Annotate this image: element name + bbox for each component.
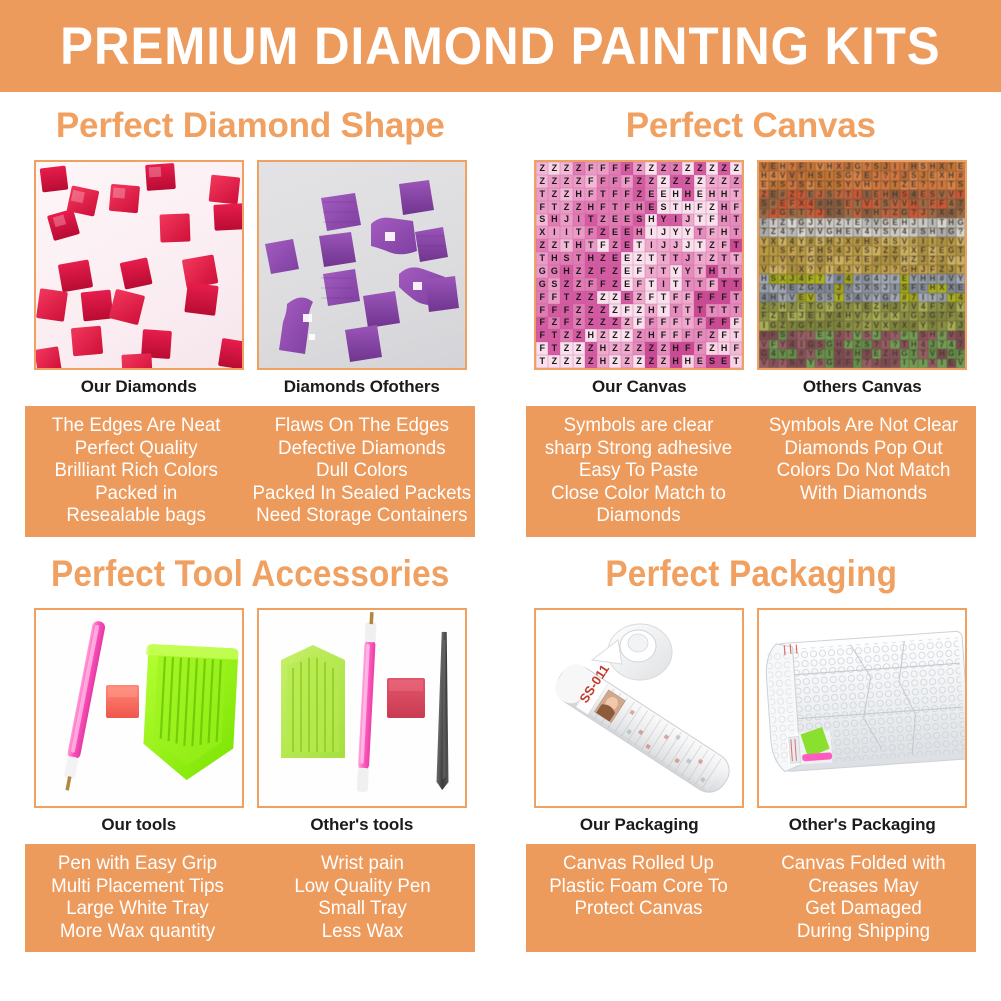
our-canvas-photo: ZZZZFFFFZZZZZZZZZZZZZFFFFZZZZZZZZZTZZHFT… bbox=[534, 160, 744, 370]
panel-tools-others: Wrist pain Low Quality Pen Small Tray Le… bbox=[255, 852, 471, 942]
our-packaging-photo: SS-011 bbox=[534, 608, 744, 808]
section-tool-accessories: Perfect Tool Accessories bbox=[0, 537, 501, 952]
others-canvas-photo: VEH?FIVHXJG?SJIIHSHXTEH4VVTHSISG7EJ?7JSJ… bbox=[757, 160, 967, 370]
canvas-symbol-grid-others: VEH?FIVHXJG?SJIIHSHXTEH4VVTHSISG7EJ?7JSJ… bbox=[759, 162, 965, 368]
image-pair-tools bbox=[0, 608, 501, 808]
others-diamonds-photo bbox=[257, 160, 467, 370]
others-tools-illustration bbox=[259, 610, 467, 808]
infographic-page: PREMIUM DIAMOND PAINTING KITS Perfect Di… bbox=[0, 0, 1001, 1001]
others-packaging-photo bbox=[757, 608, 967, 808]
canvas-symbol-grid-ours: ZZZZFFFFZZZZZZZZZZZZZFFFFZZZZZZZZZTZZHFT… bbox=[536, 162, 742, 368]
section-packaging: Perfect Packaging bbox=[501, 537, 1001, 952]
panel-diamond-shape-ours: The Edges Are Neat Perfect Quality Brill… bbox=[30, 414, 243, 527]
section-title-tool-accessories: Perfect Tool Accessories bbox=[25, 555, 475, 592]
bubble-mailer-illustration bbox=[759, 610, 967, 808]
section-title-packaging: Perfect Packaging bbox=[526, 555, 976, 592]
panel-canvas: Symbols are clear sharp Strong adhesive … bbox=[526, 406, 976, 537]
rolled-canvas-tube-illustration: SS-011 bbox=[536, 610, 744, 808]
section-title-diamond-shape: Perfect Diamond Shape bbox=[0, 108, 501, 143]
caption-our-canvas: Our Canvas bbox=[534, 377, 744, 397]
image-pair-canvas: ZZZZFFFFZZZZZZZZZZZZZFFFFZZZZZZZZZTZZHFT… bbox=[501, 160, 1001, 370]
caption-others-tools: Other's tools bbox=[257, 815, 467, 835]
panel-packaging-ours: Canvas Rolled Up Plastic Foam Core To Pr… bbox=[530, 852, 746, 942]
caption-others-diamonds: Diamonds Ofothers bbox=[257, 377, 467, 397]
panel-canvas-others: Symbols Are Not Clear Diamonds Pop Out C… bbox=[755, 414, 971, 527]
red-diamonds-illustration bbox=[36, 162, 244, 370]
caption-row-tools: Our tools Other's tools bbox=[0, 815, 501, 835]
page-header: PREMIUM DIAMOND PAINTING KITS bbox=[0, 0, 1001, 92]
panel-diamond-shape-others: Flaws On The Edges Defective Diamonds Du… bbox=[252, 414, 471, 527]
our-tools-photo bbox=[34, 608, 244, 808]
panel-packaging-others: Canvas Folded with Creases May Get Damag… bbox=[755, 852, 971, 942]
caption-others-packaging: Other's Packaging bbox=[757, 815, 967, 835]
panel-tools-ours: Pen with Easy Grip Multi Placement Tips … bbox=[30, 852, 246, 942]
caption-our-packaging: Our Packaging bbox=[534, 815, 744, 835]
section-diamond-shape: Perfect Diamond Shape bbox=[0, 92, 501, 537]
our-diamonds-photo bbox=[34, 160, 244, 370]
panel-diamond-shape: The Edges Are Neat Perfect Quality Brill… bbox=[25, 406, 475, 537]
image-pair-packaging: SS-011 bbox=[501, 608, 1001, 808]
caption-our-diamonds: Our Diamonds bbox=[34, 377, 244, 397]
caption-others-canvas: Others Canvas bbox=[757, 377, 967, 397]
purple-diamonds-illustration bbox=[259, 162, 467, 370]
caption-row-diamond-shape: Our Diamonds Diamonds Ofothers bbox=[0, 377, 501, 397]
caption-row-canvas: Our Canvas Others Canvas bbox=[501, 377, 1001, 397]
section-canvas: Perfect Canvas ZZZZFFFFZZZZZZZZZZZZZFFFF… bbox=[501, 92, 1001, 537]
section-row-bottom: Perfect Tool Accessories bbox=[0, 537, 1001, 952]
others-tools-photo bbox=[257, 608, 467, 808]
our-tools-illustration bbox=[36, 610, 244, 808]
image-pair-diamond-shape bbox=[0, 160, 501, 370]
panel-canvas-ours: Symbols are clear sharp Strong adhesive … bbox=[530, 414, 746, 527]
caption-our-tools: Our tools bbox=[34, 815, 244, 835]
section-title-canvas: Perfect Canvas bbox=[501, 108, 1001, 143]
panel-tools: Pen with Easy Grip Multi Placement Tips … bbox=[25, 844, 475, 952]
page-title: PREMIUM DIAMOND PAINTING KITS bbox=[60, 20, 940, 73]
section-row-top: Perfect Diamond Shape bbox=[0, 92, 1001, 537]
caption-row-packaging: Our Packaging Other's Packaging bbox=[501, 815, 1001, 835]
panel-packaging: Canvas Rolled Up Plastic Foam Core To Pr… bbox=[526, 844, 976, 952]
